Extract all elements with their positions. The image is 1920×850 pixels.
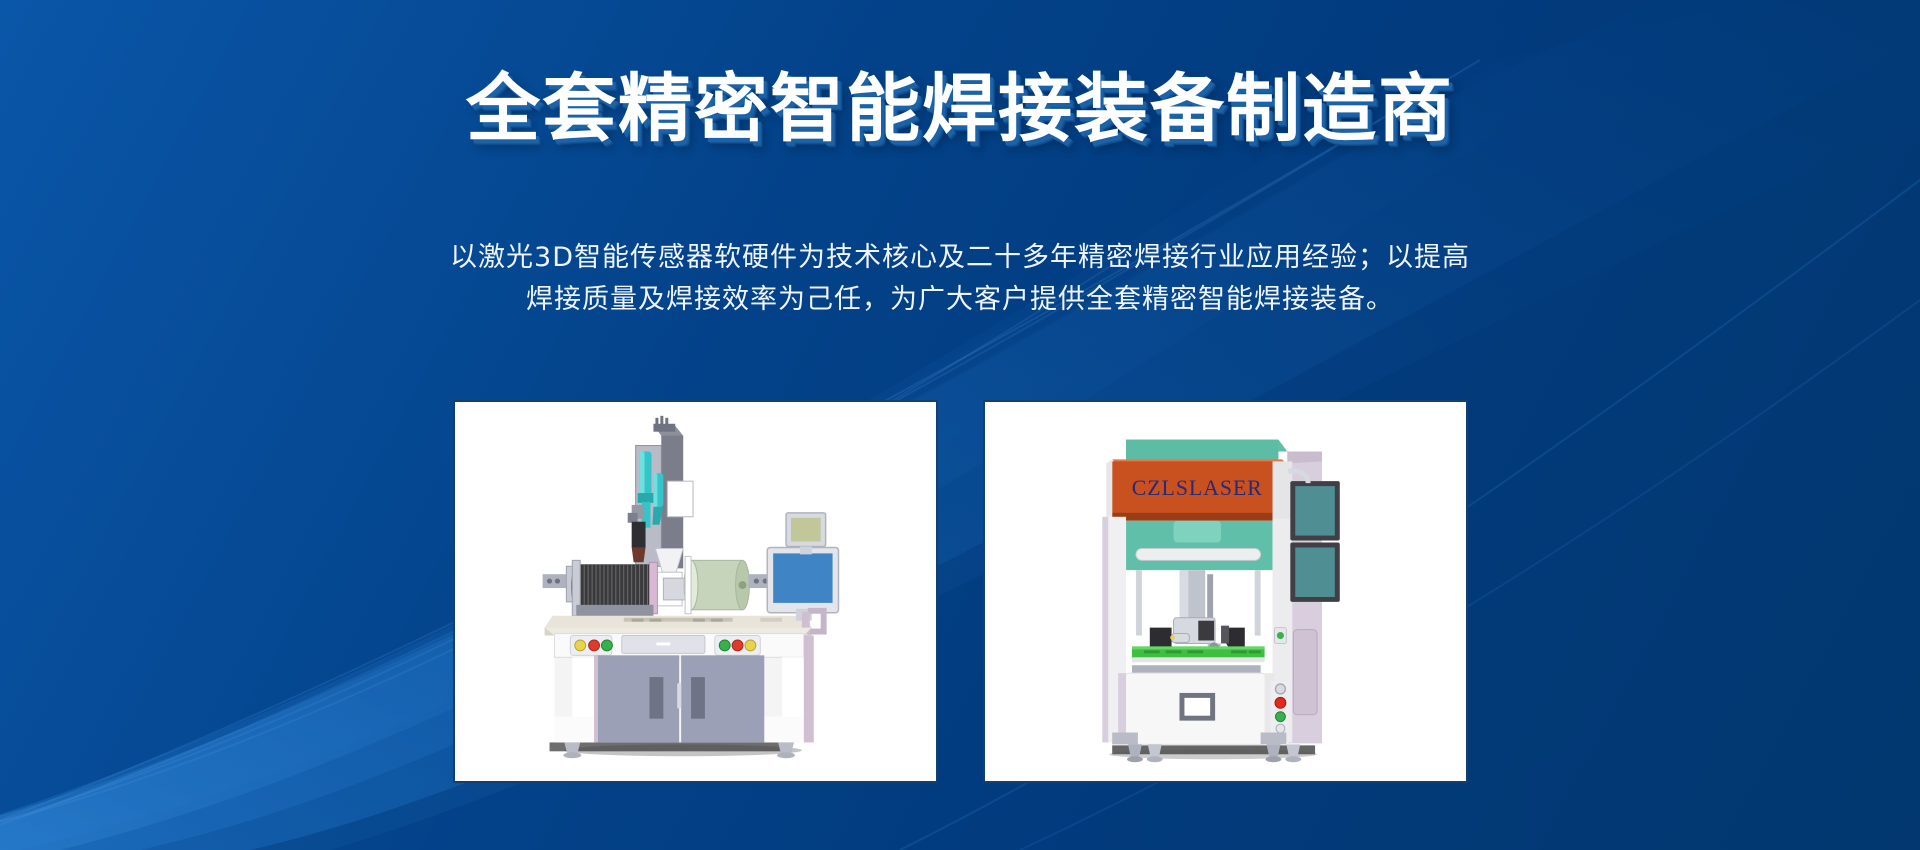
brand-label-czlslaser: CZLSLASER <box>1131 476 1262 500</box>
hero-subtitle-container: 以激光3D智能传感器软硬件为技术核心及二十多年精密焊接行业应用经验；以提高 焊接… <box>0 237 1920 321</box>
product-illustration-czlslaser-station: CZLSLASER <box>985 402 1466 781</box>
page-title: 全套精密智能焊接装备制造商 <box>466 72 1454 146</box>
product-illustration-horizontal-welder <box>455 402 936 781</box>
product-card-right[interactable]: CZLSLASER <box>983 400 1468 783</box>
product-gallery: CZLSLASER <box>0 400 1920 783</box>
hero-title-container: 全套精密智能焊接装备制造商 <box>0 72 1920 146</box>
product-card-left[interactable] <box>453 400 938 783</box>
subtitle-line-1: 以激光3D智能传感器软硬件为技术核心及二十多年精密焊接行业应用经验；以提高 <box>0 237 1920 279</box>
hero-banner: 全套精密智能焊接装备制造商 以激光3D智能传感器软硬件为技术核心及二十多年精密焊… <box>0 0 1920 850</box>
subtitle-line-2: 焊接质量及焊接效率为己任，为广大客户提供全套精密智能焊接装备。 <box>0 279 1920 321</box>
